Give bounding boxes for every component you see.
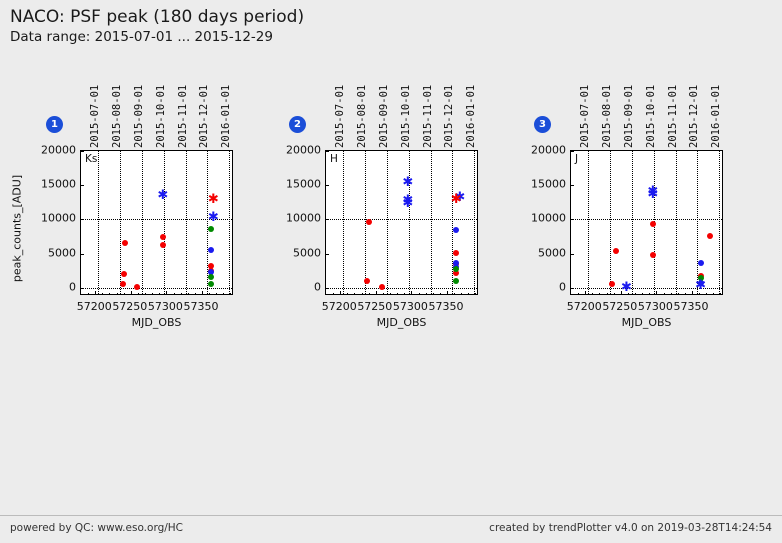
data-point-star: ✱ <box>695 282 706 290</box>
x-tick-minor <box>475 293 476 296</box>
x-tick-label: 57250 <box>357 300 392 313</box>
gridline-vertical <box>387 151 388 294</box>
x-tick-minor <box>383 293 384 296</box>
x-tick-minor <box>390 293 391 296</box>
top-axis-date-label: 2016-01-01 <box>220 85 232 148</box>
x-tick-label: 57350 <box>673 300 708 313</box>
x-tick-minor <box>468 293 469 296</box>
x-tick-minor <box>635 293 636 296</box>
panel-badge-1: 1 <box>46 116 63 133</box>
x-tick-minor <box>397 293 398 296</box>
x-tick-label: 57300 <box>148 300 183 313</box>
data-point-circle <box>160 234 166 240</box>
y-tick-major <box>325 254 329 255</box>
data-point-circle <box>707 233 713 239</box>
gridline-vertical <box>719 151 720 294</box>
top-axis-date-labels: 2015-07-012015-08-012015-09-012015-10-01… <box>325 72 478 148</box>
x-tick-minor <box>706 293 707 296</box>
plot-panel-3: 3J✱✱✱✱0500010000150002000057200572505730… <box>490 62 735 332</box>
y-tick-label: 15000 <box>286 178 321 191</box>
x-tick-minor <box>592 293 593 296</box>
top-axis-date-label: 2015-08-01 <box>601 85 613 148</box>
gridline-vertical <box>474 151 475 294</box>
top-axis-date-label: 2015-11-01 <box>422 85 434 148</box>
axes-1: Ks✱✱✱ <box>80 150 233 295</box>
x-tick-major <box>376 291 377 295</box>
x-tick-label: 57200 <box>567 300 602 313</box>
gridline-horizontal <box>571 219 722 220</box>
y-tick-major <box>570 254 574 255</box>
x-tick-minor <box>216 293 217 296</box>
data-point-circle <box>208 226 214 232</box>
data-point-circle <box>364 278 370 284</box>
y-tick-label: 5000 <box>293 246 321 259</box>
panel-badge-2: 2 <box>289 116 306 133</box>
x-tick-major <box>411 291 412 295</box>
gridline-vertical <box>676 151 677 294</box>
data-point-circle <box>160 242 166 248</box>
top-axis-date-label: 2015-12-01 <box>688 85 700 148</box>
plot-panels-container: 1Ks✱✱✱0500010000150002000057200572505730… <box>0 62 782 332</box>
gridline-vertical <box>186 151 187 294</box>
y-tick-major <box>80 219 84 220</box>
y-tick-major <box>80 185 84 186</box>
data-point-circle <box>134 284 140 290</box>
chart-header: NACO: PSF peak (180 days period) Data ra… <box>0 0 782 47</box>
x-tick-minor <box>354 293 355 296</box>
top-axis-date-label: 2015-11-01 <box>177 85 189 148</box>
axes-3: J✱✱✱✱ <box>570 150 723 295</box>
gridline-vertical <box>588 151 589 294</box>
x-tick-minor <box>426 293 427 296</box>
top-axis-date-label: 2015-07-01 <box>579 85 591 148</box>
x-tick-labels: 57200572505730057350 <box>325 298 478 316</box>
data-point-circle <box>453 227 459 233</box>
x-tick-minor <box>369 293 370 296</box>
x-tick-label: 57300 <box>393 300 428 313</box>
gridline-vertical <box>632 151 633 294</box>
x-tick-label: 57350 <box>428 300 463 313</box>
x-tick-minor <box>419 293 420 296</box>
data-point-circle <box>453 278 459 284</box>
x-tick-minor <box>145 293 146 296</box>
gridline-vertical <box>98 151 99 294</box>
top-axis-date-label: 2015-11-01 <box>667 85 679 148</box>
x-tick-minor <box>195 293 196 296</box>
x-tick-minor <box>109 293 110 296</box>
x-tick-minor <box>333 293 334 296</box>
filter-label: J <box>575 153 578 165</box>
x-tick-minor <box>599 293 600 296</box>
data-point-star: ✱ <box>208 214 219 222</box>
data-point-circle <box>120 281 126 287</box>
gridline-horizontal <box>326 219 477 220</box>
x-tick-labels: 57200572505730057350 <box>570 298 723 316</box>
data-point-circle <box>650 252 656 258</box>
data-point-circle <box>698 260 704 266</box>
x-tick-minor <box>454 293 455 296</box>
plot-panel-2: 2H✱✱✱✱✱050001000015000200005720057250573… <box>245 62 490 332</box>
data-point-star: ✱ <box>451 196 462 204</box>
y-tick-major <box>570 185 574 186</box>
x-tick-minor <box>159 293 160 296</box>
x-tick-minor <box>713 293 714 296</box>
data-point-circle <box>453 266 459 272</box>
top-axis-date-label: 2016-01-01 <box>710 85 722 148</box>
y-tick-label: 5000 <box>538 246 566 259</box>
x-tick-minor <box>678 293 679 296</box>
gridline-vertical <box>164 151 165 294</box>
x-tick-major <box>447 291 448 295</box>
top-axis-date-label: 2015-08-01 <box>356 85 368 148</box>
y-tick-label: 15000 <box>41 178 76 191</box>
x-tick-minor <box>440 293 441 296</box>
y-tick-label: 5000 <box>48 246 76 259</box>
top-axis-date-label: 2015-09-01 <box>623 85 635 148</box>
footer-powered-by: powered by QC: www.eso.org/HC <box>10 522 183 534</box>
x-tick-minor <box>607 293 608 296</box>
data-point-circle <box>379 284 385 290</box>
y-tick-label: 20000 <box>286 144 321 157</box>
y-tick-major <box>325 288 329 289</box>
x-tick-major <box>131 291 132 295</box>
x-tick-minor <box>223 293 224 296</box>
data-point-star: ✱ <box>402 200 413 208</box>
axes-2: H✱✱✱✱✱ <box>325 150 478 295</box>
x-tick-minor <box>671 293 672 296</box>
y-tick-major <box>325 185 329 186</box>
footer: powered by QC: www.eso.org/HC created by… <box>0 515 782 543</box>
x-tick-minor <box>433 293 434 296</box>
top-axis-date-label: 2015-09-01 <box>378 85 390 148</box>
top-axis-date-label: 2016-01-01 <box>465 85 477 148</box>
x-tick-major <box>95 291 96 295</box>
x-tick-major <box>692 291 693 295</box>
x-tick-minor <box>181 293 182 296</box>
y-tick-label: 10000 <box>531 212 566 225</box>
x-tick-major <box>202 291 203 295</box>
x-tick-minor <box>578 293 579 296</box>
y-tick-major <box>570 288 574 289</box>
data-point-circle <box>366 219 372 225</box>
x-tick-minor <box>720 293 721 296</box>
x-tick-minor <box>685 293 686 296</box>
top-axis-date-labels: 2015-07-012015-08-012015-09-012015-10-01… <box>80 72 233 148</box>
y-tick-major <box>570 151 574 152</box>
x-tick-minor <box>209 293 210 296</box>
x-tick-minor <box>362 293 363 296</box>
x-tick-minor <box>88 293 89 296</box>
y-tick-labels: 05000100001500020000 <box>510 150 566 295</box>
x-tick-major <box>340 291 341 295</box>
data-point-circle <box>208 247 214 253</box>
y-tick-label: 15000 <box>531 178 566 191</box>
y-tick-labels: 05000100001500020000 <box>20 150 76 295</box>
x-tick-minor <box>461 293 462 296</box>
data-point-star: ✱ <box>208 196 219 204</box>
page-subtitle: Data range: 2015-07-01 ... 2015-12-29 <box>10 28 782 47</box>
y-tick-major <box>325 219 329 220</box>
x-axis-title: MJD_OBS <box>80 316 233 329</box>
x-tick-minor <box>102 293 103 296</box>
y-tick-major <box>80 254 84 255</box>
x-tick-major <box>585 291 586 295</box>
y-axis-title: peak_counts_[ADU] <box>11 154 24 304</box>
data-point-circle <box>650 221 656 227</box>
x-axis-title: MJD_OBS <box>570 316 723 329</box>
data-point-star: ✱ <box>621 284 632 292</box>
panel-badge-3: 3 <box>534 116 551 133</box>
y-tick-labels: 05000100001500020000 <box>265 150 321 295</box>
y-tick-major <box>80 151 84 152</box>
y-tick-major <box>80 288 84 289</box>
plot-panel-1: 1Ks✱✱✱0500010000150002000057200572505730… <box>0 62 245 332</box>
x-tick-minor <box>664 293 665 296</box>
gridline-vertical <box>229 151 230 294</box>
x-tick-label: 57200 <box>77 300 112 313</box>
data-point-star: ✱ <box>402 179 413 187</box>
gridline-vertical <box>431 151 432 294</box>
data-point-circle <box>613 248 619 254</box>
y-tick-major <box>570 219 574 220</box>
gridline-horizontal <box>326 288 477 289</box>
top-axis-date-label: 2015-07-01 <box>334 85 346 148</box>
gridline-horizontal <box>81 288 232 289</box>
x-tick-minor <box>614 293 615 296</box>
top-axis-date-label: 2015-08-01 <box>111 85 123 148</box>
x-tick-label: 57350 <box>183 300 218 313</box>
data-point-circle <box>122 240 128 246</box>
top-axis-date-label: 2015-10-01 <box>400 85 412 148</box>
x-tick-minor <box>117 293 118 296</box>
footer-created-by: created by trendPlotter v4.0 on 2019-03-… <box>489 522 772 534</box>
x-tick-minor <box>138 293 139 296</box>
gridline-vertical <box>409 151 410 294</box>
x-tick-label: 57250 <box>112 300 147 313</box>
y-tick-major <box>325 151 329 152</box>
data-point-circle <box>208 281 214 287</box>
x-tick-minor <box>188 293 189 296</box>
y-tick-label: 10000 <box>41 212 76 225</box>
y-tick-label: 0 <box>314 280 321 293</box>
x-tick-major <box>656 291 657 295</box>
x-axis-title: MJD_OBS <box>325 316 478 329</box>
gridline-vertical <box>610 151 611 294</box>
x-tick-minor <box>230 293 231 296</box>
top-axis-date-label: 2015-12-01 <box>443 85 455 148</box>
filter-label: H <box>330 153 338 165</box>
top-axis-date-label: 2015-09-01 <box>133 85 145 148</box>
gridline-vertical <box>343 151 344 294</box>
top-axis-date-labels: 2015-07-012015-08-012015-09-012015-10-01… <box>570 72 723 148</box>
y-tick-label: 0 <box>69 280 76 293</box>
x-tick-label: 57300 <box>638 300 673 313</box>
x-tick-minor <box>347 293 348 296</box>
data-point-circle <box>121 271 127 277</box>
top-axis-date-label: 2015-12-01 <box>198 85 210 148</box>
data-point-star: ✱ <box>647 191 658 199</box>
top-axis-date-label: 2015-10-01 <box>155 85 167 148</box>
data-point-circle <box>453 250 459 256</box>
data-point-star: ✱ <box>157 192 168 200</box>
top-axis-date-label: 2015-07-01 <box>89 85 101 148</box>
x-tick-minor <box>152 293 153 296</box>
x-tick-minor <box>124 293 125 296</box>
page-title: NACO: PSF peak (180 days period) <box>10 6 782 28</box>
filter-label: Ks <box>85 153 97 165</box>
x-tick-minor <box>649 293 650 296</box>
x-tick-label: 57200 <box>322 300 357 313</box>
x-tick-labels: 57200572505730057350 <box>80 298 233 316</box>
y-tick-label: 20000 <box>41 144 76 157</box>
x-tick-minor <box>699 293 700 296</box>
x-tick-minor <box>642 293 643 296</box>
top-axis-date-label: 2015-10-01 <box>645 85 657 148</box>
y-tick-label: 20000 <box>531 144 566 157</box>
data-point-circle <box>609 281 615 287</box>
y-tick-label: 10000 <box>286 212 321 225</box>
x-tick-minor <box>174 293 175 296</box>
gridline-vertical <box>142 151 143 294</box>
y-tick-label: 0 <box>559 280 566 293</box>
x-tick-major <box>166 291 167 295</box>
x-tick-label: 57250 <box>602 300 637 313</box>
data-point-circle <box>208 274 214 280</box>
x-tick-minor <box>404 293 405 296</box>
